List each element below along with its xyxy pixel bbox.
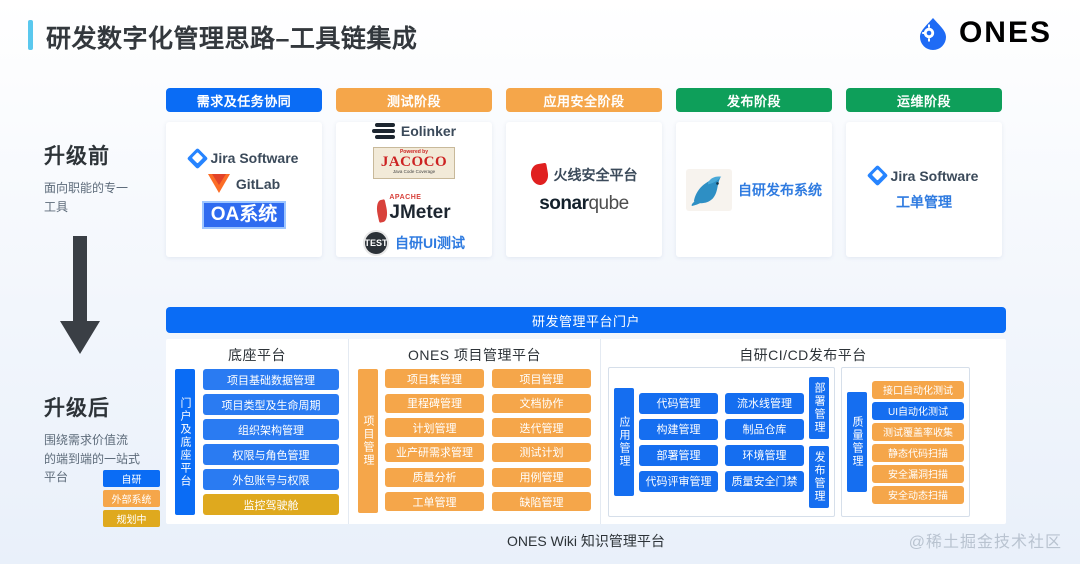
base-platform-chip[interactable]: 项目基础数据管理 [203,369,339,390]
tool-label: Jira Software [211,150,299,166]
cicd-chip[interactable]: 环境管理 [725,445,804,466]
tool-label: OA系统 [202,201,287,229]
ones-logo: ONES [916,16,1052,50]
title-accent-bar [28,20,33,50]
tool-item: GitLab [170,174,318,193]
base-platform-title: 底座平台 [166,339,348,365]
before-upgrade-subtitle: 面向职能的专一 工具 [44,179,164,216]
wiki-bar: ONES Wiki 知识管理平台 [166,529,1006,553]
tool-item: 自研发布系统 [680,169,828,211]
base-platform-chip[interactable]: 外包账号与权限 [203,469,339,490]
ones-logo-text: ONES [959,16,1052,50]
quality-chip[interactable]: 测试覆盖率收集 [872,423,964,441]
legend: 自研外部系统规划中 [103,470,160,527]
stage-header-1[interactable]: 测试阶段 [336,88,492,112]
watermark: @稀土掘金技术社区 [909,528,1062,552]
tool-label: Eolinker [401,123,456,139]
cicd-items: 代码管理流水线管理构建管理制品仓库部署管理环境管理代码评审管理质量安全门禁 [639,373,804,511]
cicd-main-panel: 应用管理 代码管理流水线管理构建管理制品仓库部署管理环境管理代码评审管理质量安全… [608,367,835,517]
down-arrow-icon [58,236,102,356]
tool-label: 工单管理 [896,192,952,212]
ones-platform-chip[interactable]: 项目集管理 [385,369,484,388]
jira-diamond-icon [866,165,887,186]
cicd-chip[interactable]: 代码评审管理 [639,471,718,492]
test-badge-icon: TEST [363,230,389,256]
tool-item: TEST自研UI测试 [340,230,488,256]
ones-platform-chip[interactable]: 里程碑管理 [385,394,484,413]
tool-label: GitLab [236,176,280,192]
stage-card-0: Jira SoftwareGitLabOA系统 [166,122,322,257]
page-title: 研发数字化管理思路–工具链集成 [46,19,417,55]
tool-item: OA系统 [170,201,318,229]
stage-column-4: 运维阶段Jira Software工单管理 [846,88,1002,258]
jmeter-feather-icon: APACHEJMeter [377,187,450,222]
ones-platform-column: ONES 项目管理平台 项目管理 项目集管理项目管理里程碑管理文档协作计划管理迭… [348,339,600,524]
tool-item: Eolinker [340,123,488,139]
ones-platform-chip[interactable]: 测试计划 [492,443,591,462]
tool-item: sonarqube [510,193,658,215]
stage-header-3[interactable]: 发布阶段 [676,88,832,112]
quality-chip[interactable]: UI自动化测试 [872,402,964,420]
stage-header-4[interactable]: 运维阶段 [846,88,1002,112]
application-management-vertical-label: 应用管理 [614,388,634,496]
quality-items: 接口自动化测试UI自动化测试测试覆盖率收集静态代码扫描安全漏洞扫描安全动态扫描 [872,373,964,511]
quality-management-vertical-label: 质量管理 [847,392,867,492]
tool-label: 自研UI测试 [395,233,465,253]
cicd-chip[interactable]: 部署管理 [639,445,718,466]
gitlab-fox-icon [208,174,230,193]
quality-panel: 质量管理 接口自动化测试UI自动化测试测试覆盖率收集静态代码扫描安全漏洞扫描安全… [841,367,970,517]
tool-item: Jira Software [170,150,318,166]
stage-column-3: 发布阶段自研发布系统 [676,88,832,258]
ones-platform-chip[interactable]: 业产研需求管理 [385,443,484,462]
release-management-vertical-label: 发布管理 [809,446,829,508]
portal-base-vertical-label: 门户及底座平台 [175,369,195,515]
ones-platform-chip[interactable]: 用例管理 [492,468,591,487]
stage-card-3: 自研发布系统 [676,122,832,257]
platform-section: 研发管理平台门户 底座平台 门户及底座平台 项目基础数据管理项目类型及生命周期组… [166,307,1006,555]
stage-column-2: 应用安全阶段火线安全平台sonarqube [506,88,662,258]
page-header: 研发数字化管理思路–工具链集成 ONES [0,0,1080,72]
before-upgrade-block: 升级前 面向职能的专一 工具 [44,140,164,216]
ones-platform-chip[interactable]: 项目管理 [492,369,591,388]
legend-chip-1: 外部系统 [103,490,160,507]
stage-column-0: 需求及任务协同Jira SoftwareGitLabOA系统 [166,88,322,258]
base-platform-chip[interactable]: 组织架构管理 [203,419,339,440]
tool-item: 火线安全平台 [510,164,658,185]
stage-card-4: Jira Software工单管理 [846,122,1002,257]
flame-icon [529,163,549,187]
cicd-chip[interactable]: 代码管理 [639,393,718,414]
ones-platform-chip[interactable]: 迭代管理 [492,418,591,437]
tool-item: Jira Software [850,168,998,184]
base-platform-column: 底座平台 门户及底座平台 项目基础数据管理项目类型及生命周期组织架构管理权限与角… [166,339,348,524]
deploy-management-vertical-label: 部署管理 [809,377,829,439]
tool-item: APACHEJMeter [340,187,488,222]
tool-item: 工单管理 [850,192,998,212]
base-platform-chip[interactable]: 权限与角色管理 [203,444,339,465]
stage-card-1: EolinkerPowered byJACOCOJava Code Covera… [336,122,492,257]
dolphin-icon [686,169,732,211]
cicd-platform-title: 自研CI/CD发布平台 [601,339,1005,365]
legend-chip-2: 规划中 [103,510,160,527]
cicd-chip[interactable]: 构建管理 [639,419,718,440]
ones-platform-chip[interactable]: 工单管理 [385,492,484,511]
jacoco-icon: Powered byJACOCOJava Code Coverage [373,147,455,179]
jira-diamond-icon [186,147,207,168]
stage-header-0[interactable]: 需求及任务协同 [166,88,322,112]
portal-banner: 研发管理平台门户 [166,307,1006,333]
tool-item: Powered byJACOCOJava Code Coverage [340,147,488,179]
platform-body: 底座平台 门户及底座平台 项目基础数据管理项目类型及生命周期组织架构管理权限与角… [166,339,1006,524]
ones-platform-title: ONES 项目管理平台 [349,339,600,365]
before-upgrade-title: 升级前 [44,140,164,170]
cicd-chip[interactable]: 流水线管理 [725,393,804,414]
after-upgrade-title: 升级后 [44,392,164,422]
tool-label: 自研发布系统 [738,180,822,200]
stage-column-1: 测试阶段EolinkerPowered byJACOCOJava Code Co… [336,88,492,258]
ones-platform-items: 项目集管理项目管理里程碑管理文档协作计划管理迭代管理业产研需求管理测试计划质量分… [385,369,591,513]
base-platform-items: 项目基础数据管理项目类型及生命周期组织架构管理权限与角色管理外包账号与权限监控驾… [203,369,339,515]
tool-label: 火线安全平台 [554,165,638,185]
ones-platform-chip[interactable]: 质量分析 [385,468,484,487]
sonarqube-wordmark: sonarqube [539,193,629,215]
quality-chip[interactable]: 接口自动化测试 [872,381,964,399]
tool-label: Jira Software [891,168,979,184]
base-platform-chip[interactable]: 监控驾驶舱 [203,494,339,515]
base-platform-chip[interactable]: 项目类型及生命周期 [203,394,339,415]
ones-droplet-gear-icon [916,16,950,50]
cicd-chip[interactable]: 质量安全门禁 [725,471,804,492]
stage-header-2[interactable]: 应用安全阶段 [506,88,662,112]
cicd-chip[interactable]: 制品仓库 [725,419,804,440]
project-management-vertical-label: 项目管理 [358,369,378,513]
eolinker-icon [372,123,395,139]
legend-chip-0: 自研 [103,470,160,487]
stage-card-2: 火线安全平台sonarqube [506,122,662,257]
cicd-platform-column: 自研CI/CD发布平台 应用管理 代码管理流水线管理构建管理制品仓库部署管理环境… [600,339,1005,524]
quality-chip[interactable]: 静态代码扫描 [872,444,964,462]
ones-platform-chip[interactable]: 计划管理 [385,418,484,437]
ones-platform-chip[interactable]: 缺陷管理 [492,492,591,511]
tool-stages-row: 需求及任务协同Jira SoftwareGitLabOA系统测试阶段Eolink… [166,88,1006,258]
quality-chip[interactable]: 安全漏洞扫描 [872,465,964,483]
ones-platform-chip[interactable]: 文档协作 [492,394,591,413]
quality-chip[interactable]: 安全动态扫描 [872,486,964,504]
